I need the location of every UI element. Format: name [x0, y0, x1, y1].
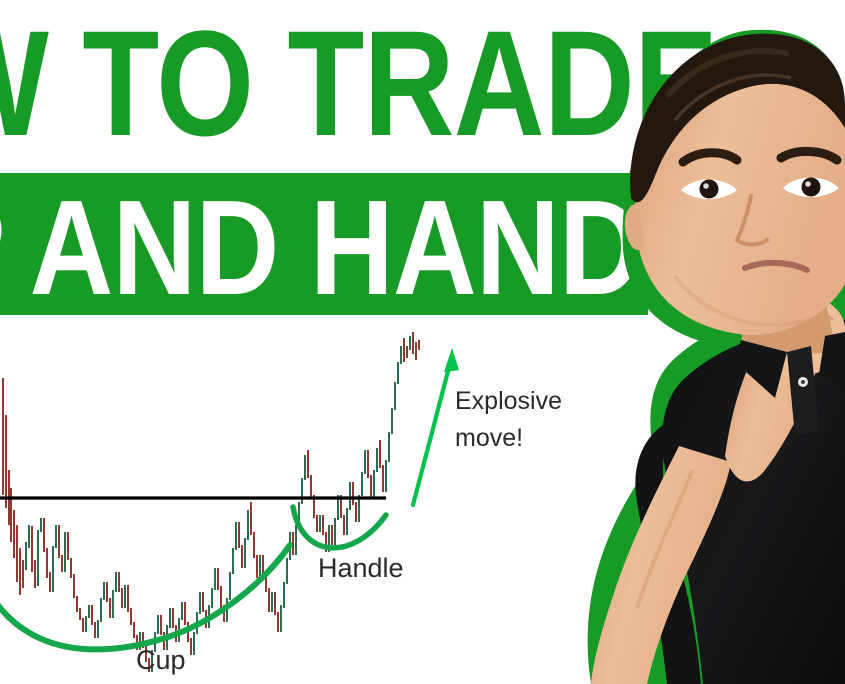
- breakout-arrow: [413, 348, 459, 505]
- title-line-2: P AND HANDLE: [0, 185, 633, 310]
- price-chart: [0, 320, 620, 684]
- chart-svg: [0, 320, 620, 684]
- explosive-move-label: Explosive move!: [455, 383, 562, 457]
- explosive-move-line-2: move!: [455, 420, 562, 457]
- handle-arc: [293, 507, 386, 548]
- handle-label: Handle: [318, 553, 404, 584]
- cup-arc: [0, 545, 290, 649]
- candlestick-series: [3, 332, 419, 672]
- portrait-svg: [575, 0, 845, 684]
- subject: [591, 34, 845, 684]
- presenter-portrait: [575, 0, 845, 684]
- youtube-thumbnail: W TO TRADE P AND HANDLE: [0, 0, 845, 684]
- cup-label: Cup: [136, 645, 186, 676]
- explosive-move-line-1: Explosive: [455, 383, 562, 420]
- title-line-1: W TO TRADE: [0, 8, 552, 158]
